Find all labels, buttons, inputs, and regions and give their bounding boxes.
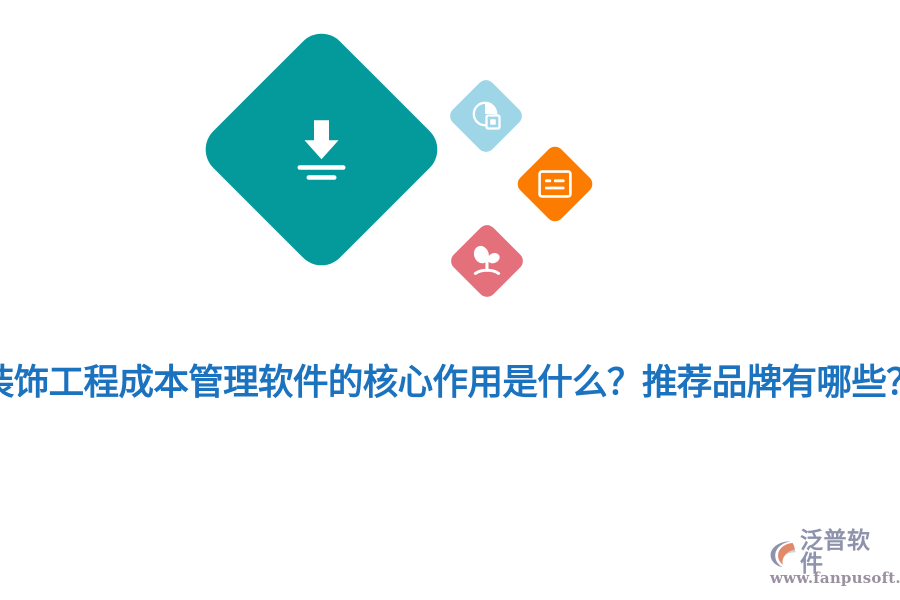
page-root: 装饰工程成本管理软件的核心作用是什么？推荐品牌有哪些？ 泛普软件 www.fan… bbox=[0, 0, 900, 600]
sprout-icon bbox=[470, 244, 504, 278]
brand-logo: 泛普软件 www.fanpusoft.com bbox=[768, 538, 892, 588]
diamond-download bbox=[195, 23, 448, 276]
pie-chart-icon bbox=[470, 100, 502, 132]
card-form-icon bbox=[538, 170, 572, 198]
fanpu-logo-mark-icon bbox=[768, 539, 799, 568]
brand-url: www.fanpusoft.com bbox=[768, 571, 892, 586]
brand-logo-row: 泛普软件 bbox=[768, 538, 892, 568]
diamond-sprout bbox=[447, 221, 526, 300]
diamond-card bbox=[514, 143, 596, 225]
page-title-text: 装饰工程成本管理软件的核心作用是什么？推荐品牌有哪些？ bbox=[0, 363, 900, 402]
hero-illustration bbox=[0, 0, 900, 340]
download-icon bbox=[286, 114, 358, 186]
diamond-chart bbox=[446, 76, 525, 155]
page-title: 装饰工程成本管理软件的核心作用是什么？推荐品牌有哪些？ bbox=[0, 352, 900, 414]
